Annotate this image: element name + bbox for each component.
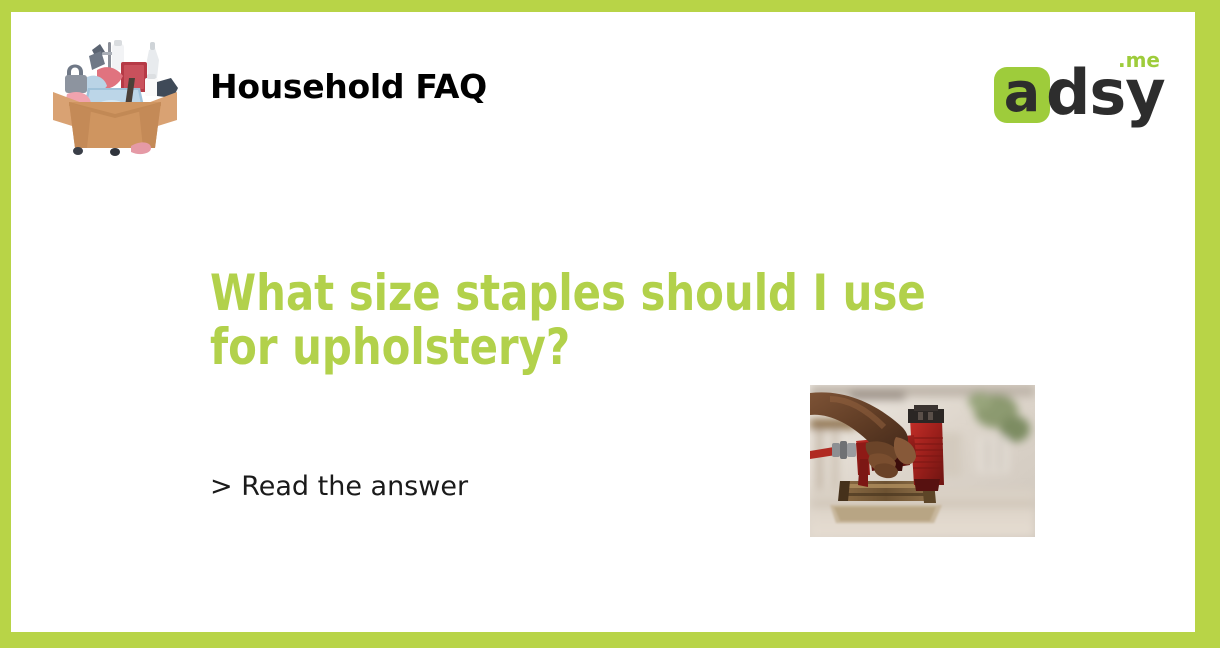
household-box-icon xyxy=(45,26,185,156)
logo-letter-a: a xyxy=(994,67,1050,123)
page-title: Household FAQ xyxy=(210,67,487,107)
staple-gun-photo xyxy=(810,385,1035,537)
question-heading: What size staples should I use for uphol… xyxy=(210,266,1047,374)
read-the-answer-link[interactable]: > Read the answer xyxy=(210,470,468,504)
adsy-logo[interactable]: a dsy .me xyxy=(994,50,1156,130)
card-header: Household FAQ a dsy .me xyxy=(11,12,1195,162)
logo-tld: .me xyxy=(1118,50,1160,70)
card-inner-canvas: Household FAQ a dsy .me What size staple… xyxy=(11,12,1195,632)
promo-card: Household FAQ a dsy .me What size staple… xyxy=(0,0,1220,648)
